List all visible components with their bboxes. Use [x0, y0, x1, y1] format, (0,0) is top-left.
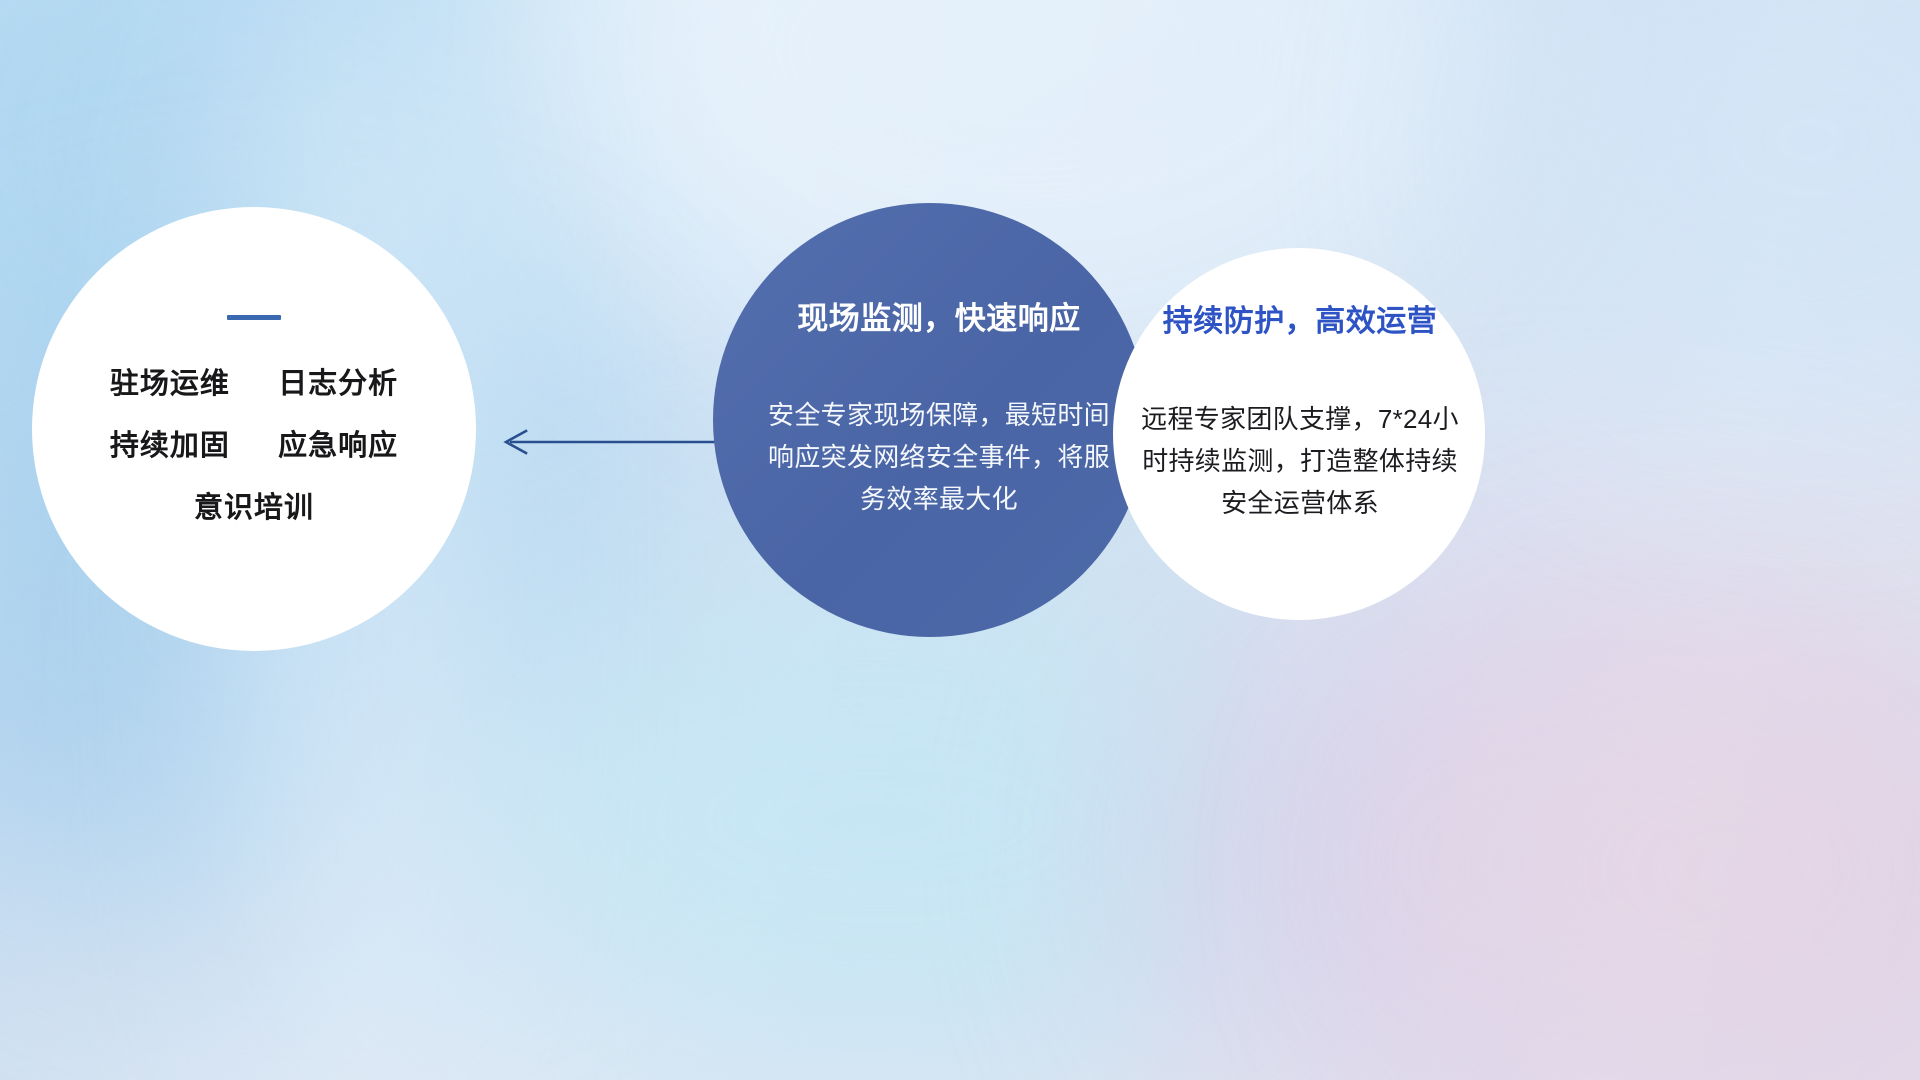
- accent-divider: [227, 315, 281, 320]
- keyword-label: 持续加固: [110, 430, 230, 462]
- capability-bubble-right: 持续防护，高效运营 远程专家团队支撑，7*24小时持续监测，打造整体持续安全运营…: [1113, 248, 1485, 620]
- right-bubble-heading: 持续防护，高效运营: [1127, 296, 1473, 340]
- keyword-row: 意识培训: [32, 494, 476, 523]
- keyword-row: 持续加固 应急响应: [32, 432, 476, 461]
- slide-canvas: 驻场运维 日志分析 持续加固 应急响应 意识培训 现场监测，快速响应 安全专家现…: [0, 0, 1920, 1080]
- keyword-label: 意识培训: [194, 492, 314, 524]
- flow-arrow-right-to-left: [470, 410, 730, 480]
- left-bubble-content: 驻场运维 日志分析 持续加固 应急响应 意识培训: [32, 315, 476, 523]
- capability-bubble-left: 驻场运维 日志分析 持续加固 应急响应 意识培训: [32, 207, 476, 651]
- keyword-label: 日志分析: [278, 368, 398, 400]
- center-bubble-content: 现场监测，快速响应 安全专家现场保障，最短时间响应突发网络安全事件，将服务效率最…: [753, 293, 1125, 520]
- keyword-label: 应急响应: [278, 430, 398, 462]
- center-bubble-body: 安全专家现场保障，最短时间响应突发网络安全事件，将服务效率最大化: [753, 394, 1125, 520]
- center-bubble-heading: 现场监测，快速响应: [753, 293, 1125, 338]
- keyword-row: 驻场运维 日志分析: [32, 370, 476, 399]
- right-bubble-body: 远程专家团队支撑，7*24小时持续监测，打造整体持续安全运营体系: [1127, 398, 1473, 524]
- keyword-label: 驻场运维: [110, 368, 230, 400]
- right-bubble-content: 持续防护，高效运营 远程专家团队支撑，7*24小时持续监测，打造整体持续安全运营…: [1127, 296, 1473, 524]
- capability-bubble-center: 现场监测，快速响应 安全专家现场保障，最短时间响应突发网络安全事件，将服务效率最…: [713, 203, 1147, 637]
